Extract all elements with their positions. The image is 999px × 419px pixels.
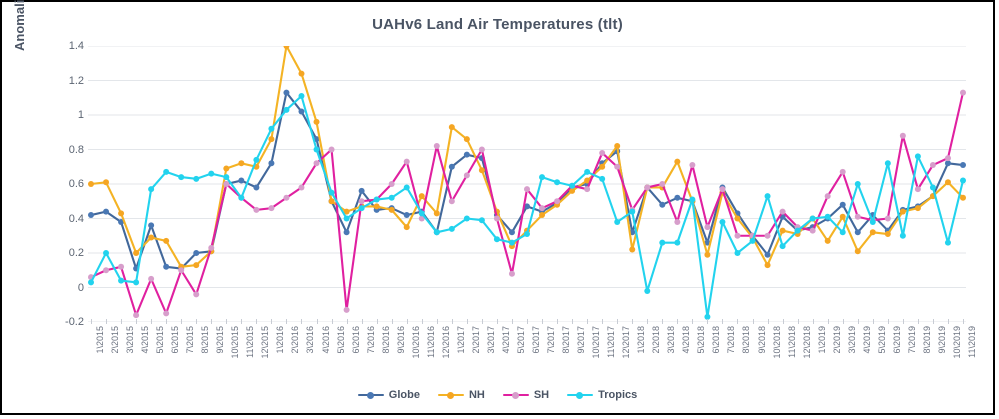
x-tick-mark: [813, 319, 814, 324]
x-axis-ticks: 1\20152\20153\20154\20155\20156\20157\20…: [88, 324, 966, 376]
data-point[interactable]: [148, 186, 154, 192]
data-point[interactable]: [208, 171, 214, 177]
data-point[interactable]: [855, 214, 861, 220]
x-tick-mark: [722, 319, 723, 324]
data-point[interactable]: [614, 219, 620, 225]
data-point[interactable]: [689, 162, 695, 168]
data-point[interactable]: [268, 205, 274, 211]
x-tick-label: 10\2016: [411, 326, 421, 359]
data-point[interactable]: [103, 250, 109, 256]
data-point[interactable]: [223, 165, 229, 171]
x-tick-label: 4\2016: [321, 326, 331, 354]
legend-label: Tropics: [598, 389, 637, 401]
x-tick-mark: [828, 319, 829, 324]
data-point[interactable]: [900, 133, 906, 139]
x-tick-mark: [798, 319, 799, 324]
data-point[interactable]: [193, 176, 199, 182]
data-point[interactable]: [148, 234, 154, 240]
data-point[interactable]: [103, 209, 109, 215]
x-tick-label: 7\2015: [185, 326, 195, 354]
data-point[interactable]: [644, 288, 650, 294]
data-point[interactable]: [539, 205, 545, 211]
y-tick-label: 0.6: [44, 178, 84, 190]
y-axis-label: Anomalies in C: [12, 0, 27, 94]
data-point[interactable]: [584, 186, 590, 192]
data-point[interactable]: [148, 222, 154, 228]
x-tick-label: 3\2016: [305, 326, 315, 354]
x-tick-label: 10\2018: [772, 326, 782, 359]
data-point[interactable]: [569, 183, 575, 189]
data-point[interactable]: [554, 198, 560, 204]
legend-swatch-icon: [567, 391, 593, 400]
data-point[interactable]: [404, 212, 410, 218]
data-point[interactable]: [283, 195, 289, 201]
data-point[interactable]: [780, 228, 786, 234]
data-point[interactable]: [524, 231, 530, 237]
x-tick-label: 5\2018: [696, 326, 706, 354]
x-tick-label: 3\2019: [847, 326, 857, 354]
x-tick-label: 9\2019: [937, 326, 947, 354]
y-tick-label: 0.8: [44, 144, 84, 156]
data-point[interactable]: [298, 109, 304, 115]
data-point[interactable]: [118, 278, 124, 284]
data-point[interactable]: [584, 169, 590, 175]
data-point[interactable]: [389, 195, 395, 201]
data-point[interactable]: [374, 203, 380, 209]
y-tick-label: 1.2: [44, 75, 84, 87]
x-tick-label: 10\2019: [952, 326, 962, 359]
data-point[interactable]: [689, 197, 695, 203]
data-point[interactable]: [780, 209, 786, 215]
data-point[interactable]: [193, 291, 199, 297]
data-point[interactable]: [268, 136, 274, 142]
data-point[interactable]: [253, 157, 259, 163]
data-point[interactable]: [389, 207, 395, 213]
x-tick-label: 2\2017: [471, 326, 481, 354]
x-tick-label: 1\2015: [95, 326, 105, 354]
legend-label: NH: [469, 389, 485, 401]
data-point[interactable]: [163, 310, 169, 316]
x-tick-label: 11\2019: [967, 326, 977, 358]
data-point[interactable]: [840, 229, 846, 235]
data-point[interactable]: [464, 172, 470, 178]
x-tick-label: 2\2016: [290, 326, 300, 354]
data-point[interactable]: [765, 233, 771, 239]
data-point[interactable]: [238, 178, 244, 184]
data-point[interactable]: [629, 247, 635, 253]
data-point[interactable]: [253, 207, 259, 213]
data-point[interactable]: [253, 184, 259, 190]
data-point[interactable]: [870, 219, 876, 225]
data-point[interactable]: [795, 228, 801, 234]
data-point[interactable]: [810, 216, 816, 222]
data-point[interactable]: [945, 179, 951, 185]
data-point[interactable]: [268, 160, 274, 166]
data-point[interactable]: [539, 212, 545, 218]
data-point[interactable]: [945, 160, 951, 166]
x-tick-label: 9\2016: [396, 326, 406, 354]
data-point[interactable]: [103, 179, 109, 185]
data-point[interactable]: [298, 184, 304, 190]
x-tick-mark: [873, 319, 874, 324]
data-point[interactable]: [599, 164, 605, 170]
x-tick-label: 8\2017: [561, 326, 571, 354]
data-point[interactable]: [359, 205, 365, 211]
legend-item-sh[interactable]: SH: [503, 389, 549, 401]
x-tick-label: 8\2015: [200, 326, 210, 354]
x-tick-mark: [918, 319, 919, 324]
data-point[interactable]: [960, 162, 966, 168]
x-tick-mark: [933, 319, 934, 324]
legend-label: SH: [534, 389, 549, 401]
x-tick-mark: [392, 319, 393, 324]
data-point[interactable]: [704, 252, 710, 258]
x-tick-label: 4\2019: [862, 326, 872, 354]
data-point[interactable]: [449, 226, 455, 232]
y-tick-label: 1.4: [44, 40, 84, 52]
x-tick-label: 6\2015: [170, 326, 180, 354]
data-point[interactable]: [765, 193, 771, 199]
x-tick-mark: [422, 319, 423, 324]
data-point[interactable]: [870, 229, 876, 235]
x-tick-mark: [347, 319, 348, 324]
data-point[interactable]: [840, 202, 846, 208]
data-point[interactable]: [479, 167, 485, 173]
chart-title: UAHv6 Land Air Temperatures (tlt): [2, 16, 993, 33]
x-tick-label: 9\2015: [215, 326, 225, 354]
data-point[interactable]: [268, 126, 274, 132]
x-tick-label: 11\2015: [245, 326, 255, 358]
x-tick-label: 9\2017: [576, 326, 586, 354]
data-point[interactable]: [825, 238, 831, 244]
data-point[interactable]: [163, 264, 169, 270]
data-point[interactable]: [674, 219, 680, 225]
x-tick-label: 8\2018: [741, 326, 751, 354]
data-point[interactable]: [88, 212, 94, 218]
data-point[interactable]: [840, 214, 846, 220]
data-point[interactable]: [494, 236, 500, 242]
x-tick-mark: [858, 319, 859, 324]
data-point[interactable]: [344, 216, 350, 222]
x-tick-mark: [256, 319, 257, 324]
x-tick-mark: [737, 319, 738, 324]
x-tick-mark: [196, 319, 197, 324]
data-point[interactable]: [509, 271, 515, 277]
data-point[interactable]: [765, 262, 771, 268]
data-point[interactable]: [449, 198, 455, 204]
data-point[interactable]: [133, 279, 139, 285]
x-tick-mark: [377, 319, 378, 324]
data-point[interactable]: [644, 184, 650, 190]
y-tick-label: 0.2: [44, 247, 84, 259]
x-tick-mark: [587, 319, 588, 324]
data-point[interactable]: [118, 264, 124, 270]
data-point[interactable]: [734, 250, 740, 256]
data-point[interactable]: [780, 243, 786, 249]
data-point[interactable]: [960, 90, 966, 96]
data-point[interactable]: [419, 193, 425, 199]
data-point[interactable]: [404, 159, 410, 165]
data-point[interactable]: [960, 178, 966, 184]
data-point[interactable]: [208, 245, 214, 251]
data-point[interactable]: [734, 233, 740, 239]
data-point[interactable]: [193, 250, 199, 256]
x-tick-label: 7\2019: [907, 326, 917, 354]
data-point[interactable]: [524, 186, 530, 192]
data-point[interactable]: [133, 250, 139, 256]
data-point[interactable]: [960, 195, 966, 201]
data-point[interactable]: [238, 195, 244, 201]
data-point[interactable]: [193, 262, 199, 268]
data-point[interactable]: [329, 190, 335, 196]
x-tick-label: 3\2018: [666, 326, 676, 354]
data-point[interactable]: [810, 228, 816, 234]
data-point[interactable]: [148, 276, 154, 282]
data-point[interactable]: [614, 164, 620, 170]
data-point[interactable]: [238, 160, 244, 166]
data-point[interactable]: [539, 174, 545, 180]
x-tick-mark: [482, 319, 483, 324]
data-point[interactable]: [404, 184, 410, 190]
data-point[interactable]: [659, 240, 665, 246]
x-tick-label: 12\2018: [802, 326, 812, 359]
x-tick-label: 3\2017: [486, 326, 496, 354]
data-point[interactable]: [915, 186, 921, 192]
data-point[interactable]: [704, 224, 710, 230]
data-point[interactable]: [359, 188, 365, 194]
x-tick-label: 4\2018: [681, 326, 691, 354]
x-tick-mark: [181, 319, 182, 324]
x-tick-mark: [602, 319, 603, 324]
data-point[interactable]: [885, 231, 891, 237]
x-tick-mark: [301, 319, 302, 324]
x-tick-mark: [662, 319, 663, 324]
data-point[interactable]: [509, 240, 515, 246]
x-tick-mark: [647, 319, 648, 324]
x-tick-mark: [572, 319, 573, 324]
x-tick-label: 7\2018: [726, 326, 736, 354]
data-point[interactable]: [900, 209, 906, 215]
data-point[interactable]: [374, 197, 380, 203]
x-tick-mark: [783, 319, 784, 324]
data-point[interactable]: [103, 267, 109, 273]
data-point[interactable]: [344, 229, 350, 235]
data-point[interactable]: [464, 152, 470, 158]
data-point[interactable]: [314, 119, 320, 125]
chart-svg: [88, 46, 966, 322]
data-point[interactable]: [163, 238, 169, 244]
legend-swatch-icon: [503, 391, 529, 400]
data-point[interactable]: [885, 216, 891, 222]
x-tick-label: 4\2017: [501, 326, 511, 354]
plot-area: [88, 46, 966, 322]
data-point[interactable]: [750, 238, 756, 244]
data-point[interactable]: [329, 147, 335, 153]
x-tick-mark: [692, 319, 693, 324]
x-tick-mark: [286, 319, 287, 324]
data-point[interactable]: [283, 90, 289, 96]
data-point[interactable]: [329, 198, 335, 204]
x-tick-mark: [948, 319, 949, 324]
data-point[interactable]: [389, 181, 395, 187]
data-point[interactable]: [840, 169, 846, 175]
data-point[interactable]: [554, 179, 560, 185]
x-tick-mark: [753, 319, 754, 324]
x-tick-mark: [963, 319, 964, 324]
x-tick-label: 6\2016: [351, 326, 361, 354]
data-point[interactable]: [659, 202, 665, 208]
x-tick-label: 5\2017: [516, 326, 526, 354]
series-line: [91, 93, 963, 269]
x-tick-label: 7\2016: [366, 326, 376, 354]
data-point[interactable]: [359, 198, 365, 204]
data-point[interactable]: [855, 181, 861, 187]
x-tick-mark: [241, 319, 242, 324]
legend-swatch-icon: [358, 391, 384, 400]
data-point[interactable]: [945, 240, 951, 246]
data-point[interactable]: [163, 169, 169, 175]
data-point[interactable]: [930, 184, 936, 190]
data-point[interactable]: [900, 233, 906, 239]
x-tick-mark: [677, 319, 678, 324]
data-point[interactable]: [404, 224, 410, 230]
data-point[interactable]: [434, 210, 440, 216]
x-tick-mark: [542, 319, 543, 324]
x-tick-mark: [121, 319, 122, 324]
series-globe: [88, 90, 966, 272]
data-point[interactable]: [629, 209, 635, 215]
data-point[interactable]: [509, 229, 515, 235]
data-point[interactable]: [298, 71, 304, 77]
x-tick-label: 9\2018: [757, 326, 767, 354]
x-tick-label: 2\2019: [832, 326, 842, 354]
x-tick-mark: [557, 319, 558, 324]
x-tick-label: 6\2019: [892, 326, 902, 354]
data-point[interactable]: [855, 229, 861, 235]
y-axis-ticks: -0.200.20.40.60.811.21.4: [38, 46, 84, 322]
data-point[interactable]: [449, 164, 455, 170]
data-point[interactable]: [674, 159, 680, 165]
data-point[interactable]: [314, 160, 320, 166]
data-point[interactable]: [494, 216, 500, 222]
x-tick-mark: [211, 319, 212, 324]
data-point[interactable]: [223, 174, 229, 180]
data-point[interactable]: [449, 124, 455, 130]
data-point[interactable]: [855, 248, 861, 254]
y-tick-label: 1: [44, 109, 84, 121]
data-point[interactable]: [118, 210, 124, 216]
data-point[interactable]: [283, 107, 289, 113]
data-point[interactable]: [885, 160, 891, 166]
x-tick-mark: [437, 319, 438, 324]
x-tick-label: 10\2015: [230, 326, 240, 359]
data-point[interactable]: [674, 240, 680, 246]
y-tick-label: 0: [44, 282, 84, 294]
x-tick-mark: [768, 319, 769, 324]
x-tick-mark: [512, 319, 513, 324]
x-tick-label: 12\2015: [260, 326, 270, 359]
data-point[interactable]: [825, 193, 831, 199]
data-point[interactable]: [659, 181, 665, 187]
x-tick-mark: [106, 319, 107, 324]
x-tick-mark: [467, 319, 468, 324]
data-point[interactable]: [734, 216, 740, 222]
chart-legend: GlobeNHSHTropics: [2, 389, 993, 401]
data-point[interactable]: [915, 205, 921, 211]
data-point[interactable]: [223, 181, 229, 187]
x-tick-mark: [497, 319, 498, 324]
data-point[interactable]: [314, 147, 320, 153]
data-point[interactable]: [419, 210, 425, 216]
data-point[interactable]: [719, 186, 725, 192]
y-tick-label: -0.2: [44, 316, 84, 328]
x-tick-label: 11\2018: [787, 326, 797, 358]
data-point[interactable]: [479, 147, 485, 153]
data-point[interactable]: [765, 252, 771, 258]
legend-item-globe[interactable]: Globe: [358, 389, 420, 401]
x-tick-mark: [226, 319, 227, 324]
x-tick-mark: [707, 319, 708, 324]
x-tick-mark: [362, 319, 363, 324]
x-tick-mark: [151, 319, 152, 324]
data-point[interactable]: [930, 162, 936, 168]
data-point[interactable]: [674, 195, 680, 201]
x-tick-mark: [317, 319, 318, 324]
legend-item-tropics[interactable]: Tropics: [567, 389, 637, 401]
data-point[interactable]: [434, 229, 440, 235]
x-tick-mark: [452, 319, 453, 324]
data-point[interactable]: [434, 143, 440, 149]
x-tick-label: 6\2018: [711, 326, 721, 354]
x-tick-mark: [332, 319, 333, 324]
x-tick-label: 8\2016: [381, 326, 391, 354]
data-point[interactable]: [464, 216, 470, 222]
x-tick-label: 11\2017: [606, 326, 616, 358]
legend-item-nh[interactable]: NH: [438, 389, 485, 401]
x-tick-mark: [888, 319, 889, 324]
data-point[interactable]: [599, 176, 605, 182]
data-point[interactable]: [88, 279, 94, 285]
x-tick-label: 2\2015: [110, 326, 120, 354]
x-tick-label: 2\2018: [651, 326, 661, 354]
data-point[interactable]: [719, 219, 725, 225]
data-point[interactable]: [915, 153, 921, 159]
x-tick-mark: [617, 319, 618, 324]
x-tick-label: 4\2015: [140, 326, 150, 354]
data-point[interactable]: [599, 150, 605, 156]
x-tick-label: 1\2019: [817, 326, 827, 354]
data-point[interactable]: [479, 217, 485, 223]
data-point[interactable]: [825, 214, 831, 220]
data-point[interactable]: [298, 93, 304, 99]
data-point[interactable]: [133, 312, 139, 318]
data-point[interactable]: [614, 143, 620, 149]
x-tick-label: 10\2017: [591, 326, 601, 359]
data-point[interactable]: [945, 155, 951, 161]
x-tick-mark: [407, 319, 408, 324]
data-point[interactable]: [88, 181, 94, 187]
data-point[interactable]: [344, 307, 350, 313]
y-tick-label: 0.4: [44, 213, 84, 225]
data-point[interactable]: [178, 267, 184, 273]
x-tick-mark: [632, 319, 633, 324]
data-point[interactable]: [464, 136, 470, 142]
x-tick-label: 1\2017: [456, 326, 466, 354]
x-tick-mark: [91, 319, 92, 324]
x-tick-label: 5\2016: [336, 326, 346, 354]
x-tick-label: 1\2018: [636, 326, 646, 354]
data-point[interactable]: [178, 174, 184, 180]
